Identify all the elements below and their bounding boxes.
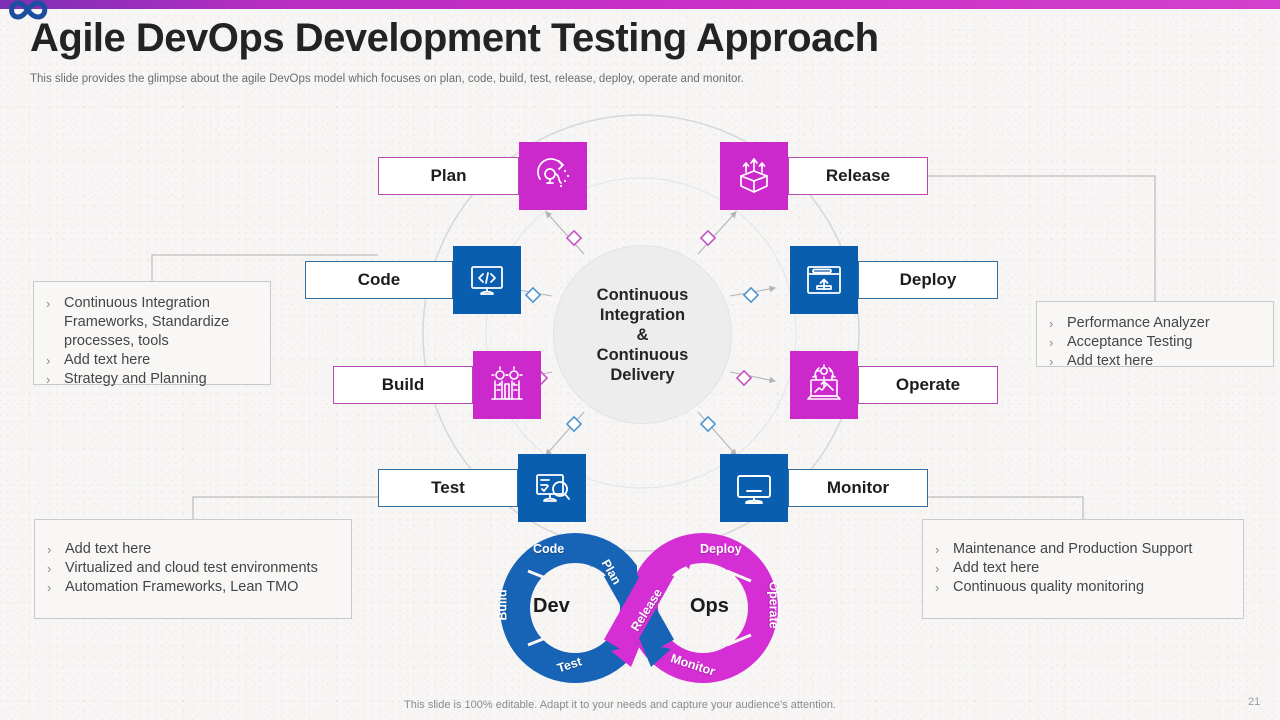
chevron-right-icon: › [46,370,64,389]
page-subtitle: This slide provides the glimpse about th… [30,73,744,85]
desktop-monitor-icon [720,454,788,522]
node-operate[interactable]: Operate [790,351,998,419]
node-code[interactable]: Code [305,246,521,314]
center-line-1: Continuous [597,286,689,304]
node-plan-label: Plan [378,157,519,195]
list-item: ›Add text here [46,351,256,370]
list-item: ›Continuous Integration Frameworks, Stan… [46,294,256,351]
devops-infinity-diagram: Dev Ops Code Plan Build Test Release Dep… [465,525,815,690]
info-box-top-left: ›Continuous Integration Frameworks, Stan… [33,281,271,385]
info-box-bottom-left: ›Add text here ›Virtualized and cloud te… [34,519,352,619]
list-item: ›Add text here [935,559,1229,578]
chevron-right-icon: › [47,559,65,578]
monitor-code-icon [453,246,521,314]
chevron-right-icon: › [47,578,65,597]
node-operate-label: Operate [858,366,998,404]
node-monitor-label: Monitor [788,469,928,507]
node-test[interactable]: Test [378,454,586,522]
node-build[interactable]: Build [333,351,541,419]
node-code-label: Code [305,261,453,299]
loop-stage-operate: Operate [767,581,781,628]
accent-top-bar [0,0,1280,9]
node-plan[interactable]: Plan [378,142,587,210]
loop-stage-build: Build [496,589,510,620]
center-circle: Continuous Integration & Continuous Deli… [553,245,732,424]
info-box-bottom-right: ›Maintenance and Production Support ›Add… [922,519,1244,619]
loop-stage-deploy: Deploy [700,542,742,556]
center-line-5: Delivery [610,366,674,384]
list-item: ›Add text here [1049,352,1259,371]
list-item: ›Acceptance Testing [1049,333,1259,352]
node-build-label: Build [333,366,473,404]
list-item: ›Continuous quality monitoring [935,578,1229,597]
open-box-release-icon [720,142,788,210]
page-number: 21 [1248,696,1260,708]
chevron-right-icon: › [935,578,953,597]
center-line-2: Integration [600,306,685,324]
page-title: Agile DevOps Development Testing Approac… [30,16,879,61]
center-line-3: & [637,326,649,344]
chevron-right-icon: › [935,540,953,559]
loop-stage-code: Code [533,542,564,556]
chevron-right-icon: › [935,559,953,578]
factory-gear-build-icon [473,351,541,419]
node-monitor[interactable]: Monitor [720,454,928,522]
laptop-gear-operate-icon [790,351,858,419]
node-test-label: Test [378,469,518,507]
chevron-right-icon: › [47,540,65,559]
info-box-top-right: ›Performance Analyzer ›Acceptance Testin… [1036,301,1274,367]
browser-upload-deploy-icon [790,246,858,314]
list-item: ›Automation Frameworks, Lean TMO [47,578,337,597]
footer-note: This slide is 100% editable. Adapt it to… [404,699,836,711]
list-item: ›Performance Analyzer [1049,314,1259,333]
chevron-right-icon: › [1049,352,1067,371]
chevron-right-icon: › [46,294,64,313]
node-deploy[interactable]: Deploy [790,246,998,314]
list-item: ›Strategy and Planning [46,370,256,389]
node-deploy-label: Deploy [858,261,998,299]
list-item: ›Virtualized and cloud test environments [47,559,337,578]
list-item: ›Maintenance and Production Support [935,540,1229,559]
node-release[interactable]: Release [720,142,928,210]
monitor-magnifier-test-icon [518,454,586,522]
chevron-right-icon: › [46,351,64,370]
chevron-right-icon: › [1049,333,1067,352]
center-line-4: Continuous [597,346,689,364]
node-release-label: Release [788,157,928,195]
loop-dev-label: Dev [533,595,570,618]
lightbulb-plan-icon [519,142,587,210]
chevron-right-icon: › [1049,314,1067,333]
loop-ops-label: Ops [690,595,729,618]
list-item: ›Add text here [47,540,337,559]
